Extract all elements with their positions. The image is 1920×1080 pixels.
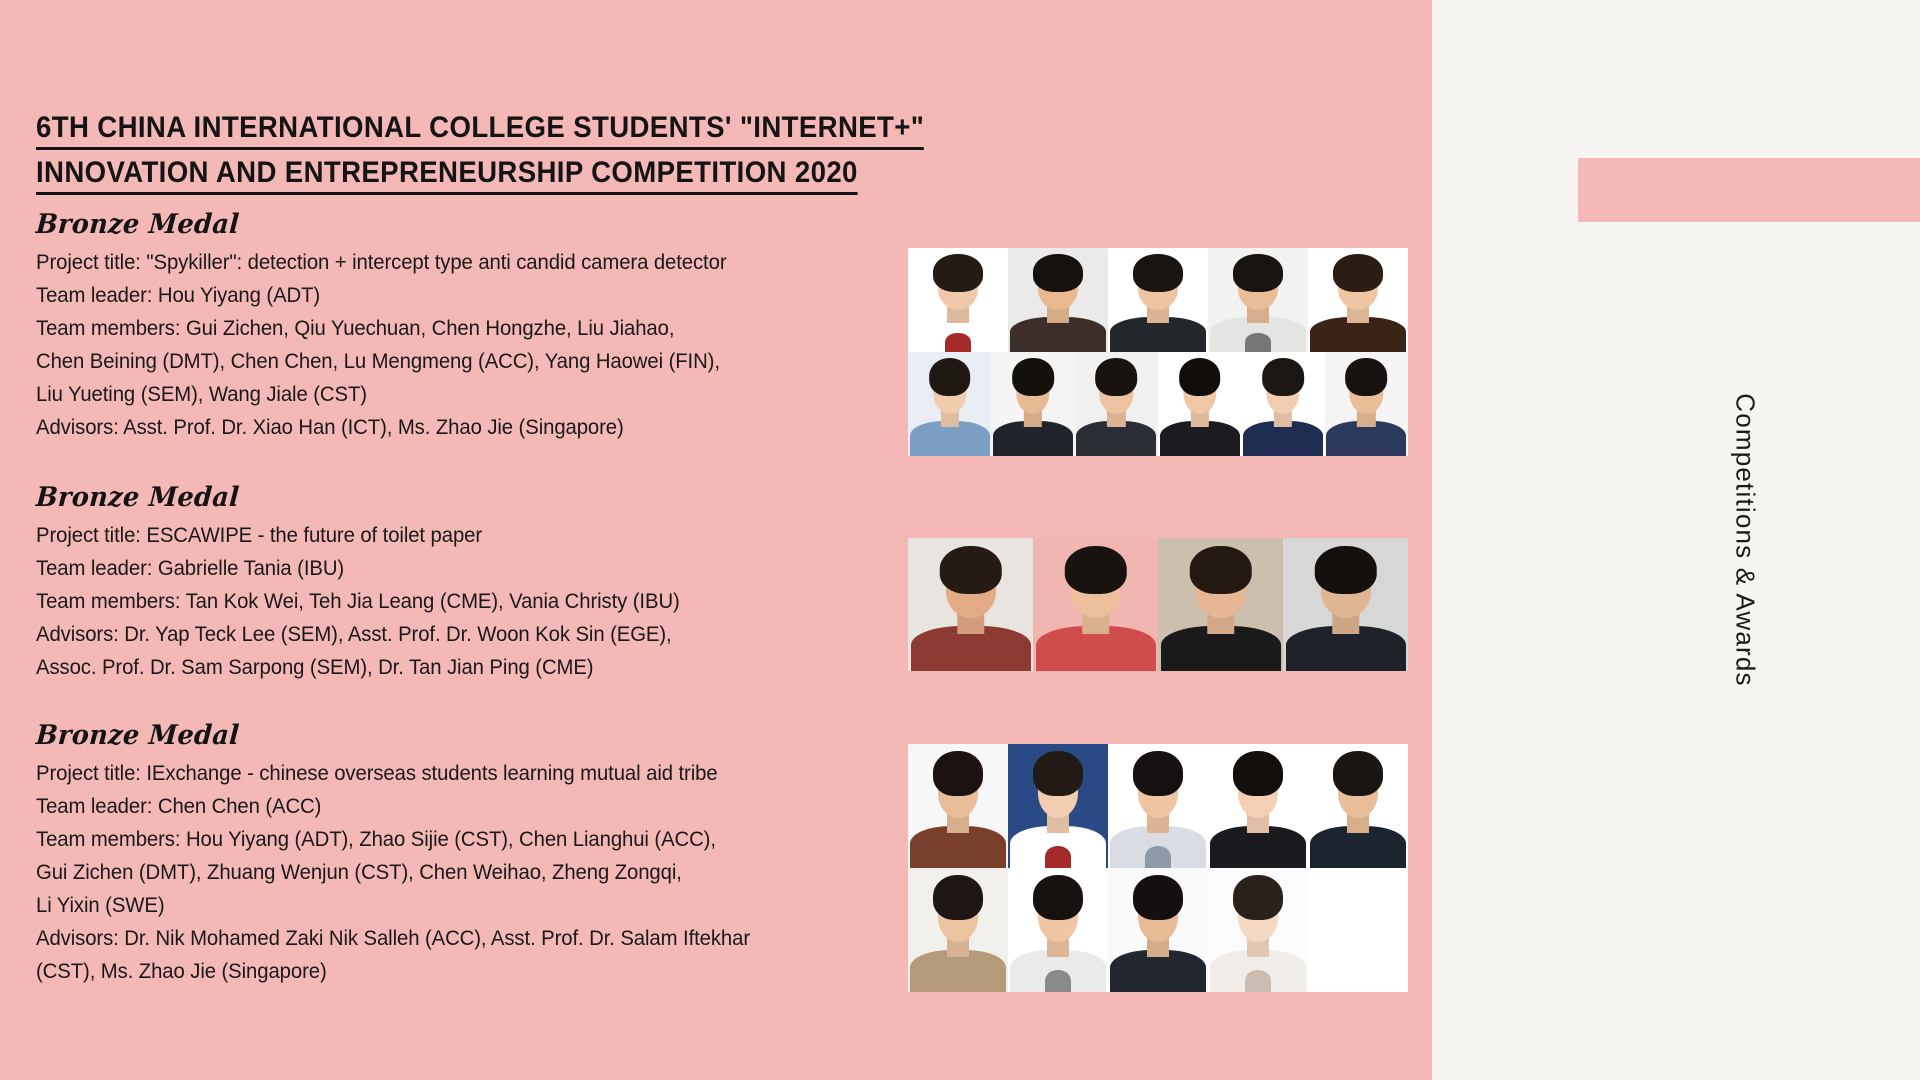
side-section-label: Competitions & Awards: [1730, 393, 1761, 687]
award-details-1: Project title: "Spykiller": detection + …: [36, 246, 868, 444]
portrait-photo: [908, 868, 1008, 992]
portrait-photo: [1033, 538, 1158, 671]
portrait-collar: [945, 970, 971, 992]
detail-line: Advisors: Asst. Prof. Dr. Xiao Han (ICT)…: [36, 411, 868, 444]
portrait-hair: [1179, 358, 1221, 395]
detail-line: Team leader: Chen Chen (ACC): [36, 790, 868, 823]
portrait-photo: [1008, 868, 1108, 992]
portrait-collar: [1145, 846, 1171, 868]
portrait-photo: [1008, 744, 1108, 868]
detail-line: Advisors: Dr. Nik Mohamed Zaki Nik Salle…: [36, 922, 868, 955]
medal-heading: Bronze Medal: [35, 210, 873, 240]
portrait-hair: [1333, 751, 1383, 796]
portrait-hair: [1189, 546, 1252, 594]
portrait-photo: [1158, 352, 1241, 456]
portrait-hair: [1333, 254, 1383, 291]
portrait-hair: [1133, 254, 1183, 291]
page-title-line-2: INNOVATION AND ENTREPRENEURSHIP COMPETIT…: [36, 156, 858, 195]
portrait-hair: [1133, 751, 1183, 796]
portrait-collar: [1045, 970, 1071, 992]
page-title-line-1: 6TH CHINA INTERNATIONAL COLLEGE STUDENTS…: [36, 111, 924, 150]
portrait-hair: [929, 358, 971, 395]
portrait-photo: [1208, 868, 1308, 992]
award-section-3: Bronze Medal Project title: IExchange - …: [36, 721, 916, 988]
detail-line: Project title: ESCAWIPE - the future of …: [36, 519, 868, 552]
portrait-photo: [1308, 248, 1408, 352]
detail-line: Gui Zichen (DMT), Zhuang Wenjun (CST), C…: [36, 856, 868, 889]
portrait-photo: [1108, 248, 1208, 352]
portrait-photo: [1208, 248, 1308, 352]
slide-canvas: Competitions & Awards 6TH CHINA INTERNAT…: [0, 0, 1920, 1080]
portrait-collar: [1345, 846, 1371, 868]
portrait-collar: [939, 437, 961, 456]
portrait-hair: [939, 546, 1002, 594]
portrait-collar: [1145, 333, 1171, 352]
award-details-2: Project title: ESCAWIPE - the future of …: [36, 519, 868, 684]
portrait-hair: [1233, 254, 1283, 291]
portrait-collar: [1045, 333, 1071, 352]
detail-line: (CST), Ms. Zhao Jie (Singapore): [36, 955, 868, 988]
portrait-photo: [1108, 868, 1208, 992]
portrait-photo: [1208, 744, 1308, 868]
detail-line: Team leader: Hou Yiyang (ADT): [36, 279, 868, 312]
portrait-hair: [1033, 254, 1083, 291]
portrait-collar: [1245, 970, 1271, 992]
portrait-collar: [1245, 333, 1271, 352]
detail-line: Team members: Tan Kok Wei, Teh Jia Leang…: [36, 585, 868, 618]
portrait-photo: [1308, 744, 1408, 868]
award-section-2: Bronze Medal Project title: ESCAWIPE - t…: [36, 483, 916, 684]
team-photo-grid-1: [908, 248, 1408, 456]
portrait-photo: [1325, 352, 1408, 456]
portrait-photo: [908, 248, 1008, 352]
portrait-hair: [1033, 875, 1083, 920]
portrait-hair: [1262, 358, 1304, 395]
detail-line: Liu Yueting (SEM), Wang Jiale (CST): [36, 378, 868, 411]
portrait-photo: [1108, 744, 1208, 868]
portrait-photo: [908, 352, 991, 456]
detail-line: Team members: Gui Zichen, Qiu Yuechuan, …: [36, 312, 868, 345]
award-section-1: Bronze Medal Project title: "Spykiller":…: [36, 210, 916, 444]
portrait-hair: [1233, 875, 1283, 920]
portrait-collar: [1272, 437, 1294, 456]
medal-heading: Bronze Medal: [35, 721, 873, 751]
portrait-collar: [1189, 437, 1211, 456]
portrait-collar: [1022, 437, 1044, 456]
portrait-collar: [945, 846, 971, 868]
portrait-hair: [933, 875, 983, 920]
award-details-3: Project title: IExchange - chinese overs…: [36, 757, 868, 988]
portrait-hair: [1314, 546, 1377, 594]
team-photo-grid-2: [908, 538, 1408, 671]
detail-line: Project title: "Spykiller": detection + …: [36, 246, 868, 279]
portrait-hair: [1033, 751, 1083, 796]
detail-line: Team leader: Gabrielle Tania (IBU): [36, 552, 868, 585]
portrait-photo: [1158, 538, 1283, 671]
detail-line: Chen Beining (DMT), Chen Chen, Lu Mengme…: [36, 345, 868, 378]
pink-accent-bar: [1578, 158, 1920, 222]
portrait-collar: [954, 647, 987, 671]
medal-heading: Bronze Medal: [35, 483, 873, 513]
page-title: 6TH CHINA INTERNATIONAL COLLEGE STUDENTS…: [36, 105, 1011, 195]
portrait-collar: [1079, 647, 1112, 671]
portrait-photo: [1075, 352, 1158, 456]
portrait-collar: [945, 333, 971, 352]
photo-row: [908, 744, 1408, 868]
detail-line: Project title: IExchange - chinese overs…: [36, 757, 868, 790]
detail-line: Assoc. Prof. Dr. Sam Sarpong (SEM), Dr. …: [36, 651, 868, 684]
portrait-photo: [1241, 352, 1324, 456]
detail-line: Advisors: Dr. Yap Teck Lee (SEM), Asst. …: [36, 618, 868, 651]
portrait-photo: [1283, 538, 1408, 671]
portrait-photo: [991, 352, 1074, 456]
detail-line: Li Yixin (SWE): [36, 889, 868, 922]
team-photo-grid-3: [908, 744, 1408, 992]
photo-row: [908, 538, 1408, 671]
portrait-photo: [908, 744, 1008, 868]
photo-row: [908, 248, 1408, 352]
portrait-hair: [1095, 358, 1137, 395]
portrait-collar: [1345, 333, 1371, 352]
portrait-photo: [1308, 868, 1408, 992]
portrait-hair: [1133, 875, 1183, 920]
portrait-photo: [908, 538, 1033, 671]
portrait-collar: [1329, 647, 1362, 671]
portrait-hair: [933, 254, 983, 291]
portrait-collar: [1355, 437, 1377, 456]
portrait-photo: [1008, 248, 1108, 352]
portrait-hair: [933, 751, 983, 796]
photo-row: [908, 352, 1408, 456]
portrait-hair: [1064, 546, 1127, 594]
portrait-collar: [1204, 647, 1237, 671]
portrait-hair: [1233, 751, 1283, 796]
photo-row: [908, 868, 1408, 992]
portrait-collar: [1105, 437, 1127, 456]
portrait-collar: [1145, 970, 1171, 992]
portrait-hair: [1345, 358, 1387, 395]
portrait-collar: [1245, 846, 1271, 868]
detail-line: Team members: Hou Yiyang (ADT), Zhao Sij…: [36, 823, 868, 856]
portrait-hair: [1012, 358, 1054, 395]
portrait-collar: [1045, 846, 1071, 868]
